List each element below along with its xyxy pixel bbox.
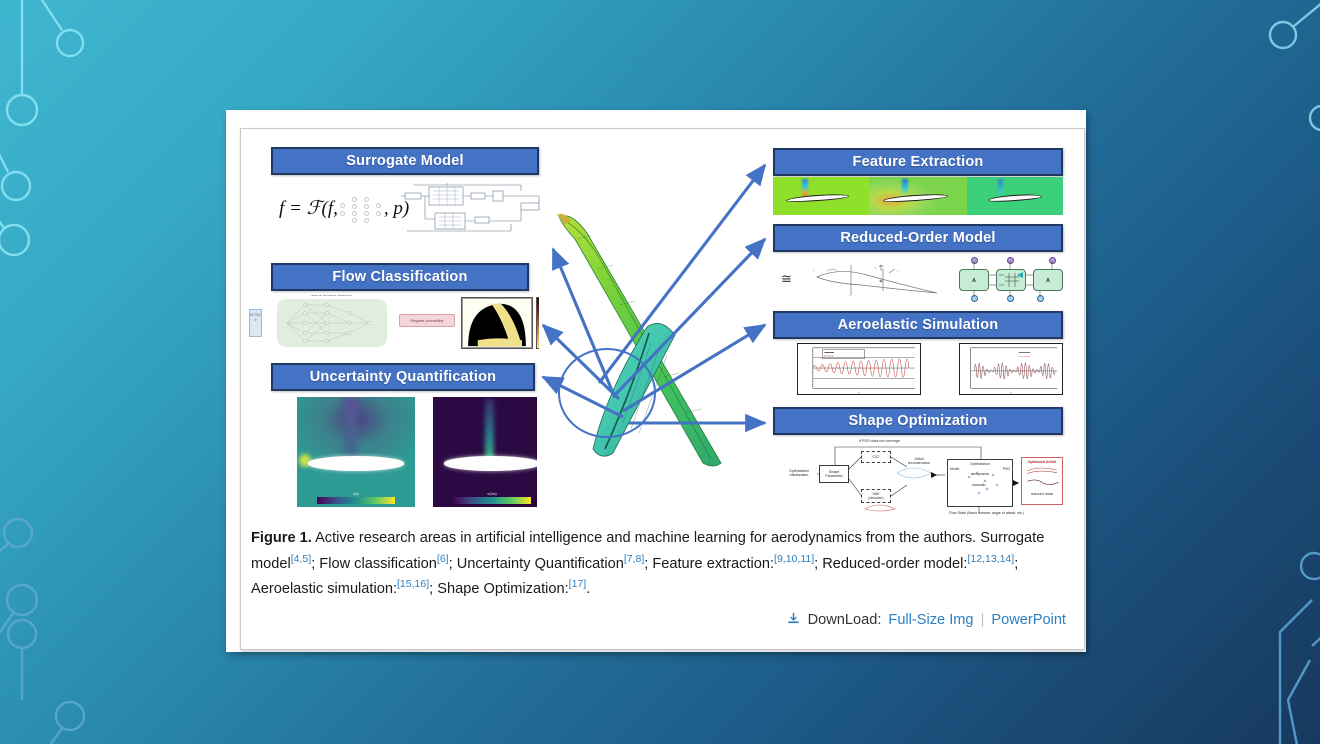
- caption-ref-2: [6]: [437, 553, 449, 565]
- caption-ref-1: [4,5]: [291, 553, 311, 565]
- caption-ref-5: [12,13,14]: [967, 553, 1014, 565]
- figure-caption: Figure 1. Active research areas in artif…: [251, 527, 1069, 602]
- caption-ref-7: [17]: [569, 578, 587, 590]
- caption-text-4: ; Feature extraction:: [644, 556, 774, 572]
- download-powerpoint-link[interactable]: PowerPoint: [991, 612, 1066, 628]
- figure-box: Surrogate Model f = ℱ(f, , p): [240, 128, 1085, 650]
- connector-arrows: [241, 129, 1085, 519]
- caption-text-2: ; Flow classification: [311, 556, 437, 572]
- download-label: DownLoad:: [808, 612, 882, 628]
- caption-ref-6: [15,16]: [397, 578, 429, 590]
- arrow-to-surrogate-model: [553, 249, 613, 393]
- caption-text-8: .: [586, 581, 590, 597]
- download-separator: |: [981, 612, 985, 628]
- caption-text-5: ; Reduced-order model:: [814, 556, 967, 572]
- arrow-to-aeroelastic-simulation: [623, 325, 765, 411]
- download-full-size-link[interactable]: Full-Size Img: [888, 612, 973, 628]
- caption-text-7: ; Shape Optimization:: [429, 581, 569, 597]
- download-row: DownLoad: Full-Size Img | PowerPoint: [786, 611, 1066, 629]
- arrow-to-feature-extraction: [599, 165, 765, 383]
- caption-ref-3: [7,8]: [624, 553, 644, 565]
- caption-text-3: ; Uncertainty Quantification: [449, 556, 624, 572]
- caption-label: Figure 1.: [251, 530, 312, 546]
- download-icon[interactable]: [786, 611, 801, 629]
- arrow-to-uncertainty-quantification: [543, 377, 623, 417]
- caption-ref-4: [9,10,11]: [774, 553, 814, 565]
- figure-image: Surrogate Model f = ℱ(f, , p): [241, 129, 1085, 519]
- arrow-to-flow-classification: [543, 325, 619, 399]
